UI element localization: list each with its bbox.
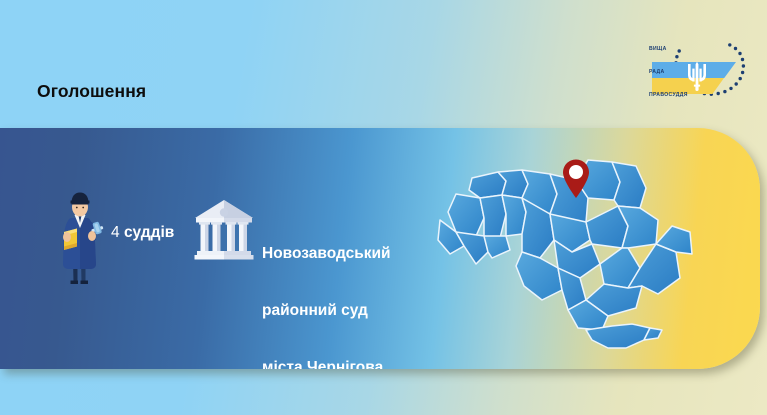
court-name: Новозаводський районний суд міста Черніг… bbox=[262, 206, 391, 369]
logo-text: ВИЩА РАДА ПРАВОСУДДЯ bbox=[649, 31, 688, 115]
court-name-line-1: Новозаводський bbox=[262, 244, 391, 263]
logo-text-line-2: РАДА bbox=[649, 69, 688, 77]
judges-count-number: 4 bbox=[111, 224, 120, 241]
court-name-line-3: міста Чернігова bbox=[262, 358, 391, 369]
header: Оголошення про початок процедури відрядж… bbox=[0, 0, 767, 128]
judges-count-label: суддів bbox=[124, 224, 174, 241]
map-marker-pin-icon bbox=[561, 159, 591, 199]
announcement-banner: 4 суддів bbox=[0, 128, 760, 369]
logo-text-line-3: ПРАВОСУДДЯ bbox=[649, 92, 688, 100]
court-name-line-2: районний суд bbox=[262, 301, 391, 320]
poster-root: Оголошення про початок процедури відрядж… bbox=[0, 0, 767, 415]
courthouse-building-icon bbox=[193, 197, 255, 264]
judge-figure-icon bbox=[52, 190, 110, 286]
page-title-line-1: Оголошення bbox=[37, 80, 244, 104]
judges-count: 4 суддів bbox=[111, 224, 174, 242]
logo-text-line-1: ВИЩА bbox=[649, 46, 688, 54]
organization-logo: ВИЩА РАДА ПРАВОСУДДЯ bbox=[640, 18, 752, 114]
ukrainian-trident-icon bbox=[686, 61, 708, 91]
